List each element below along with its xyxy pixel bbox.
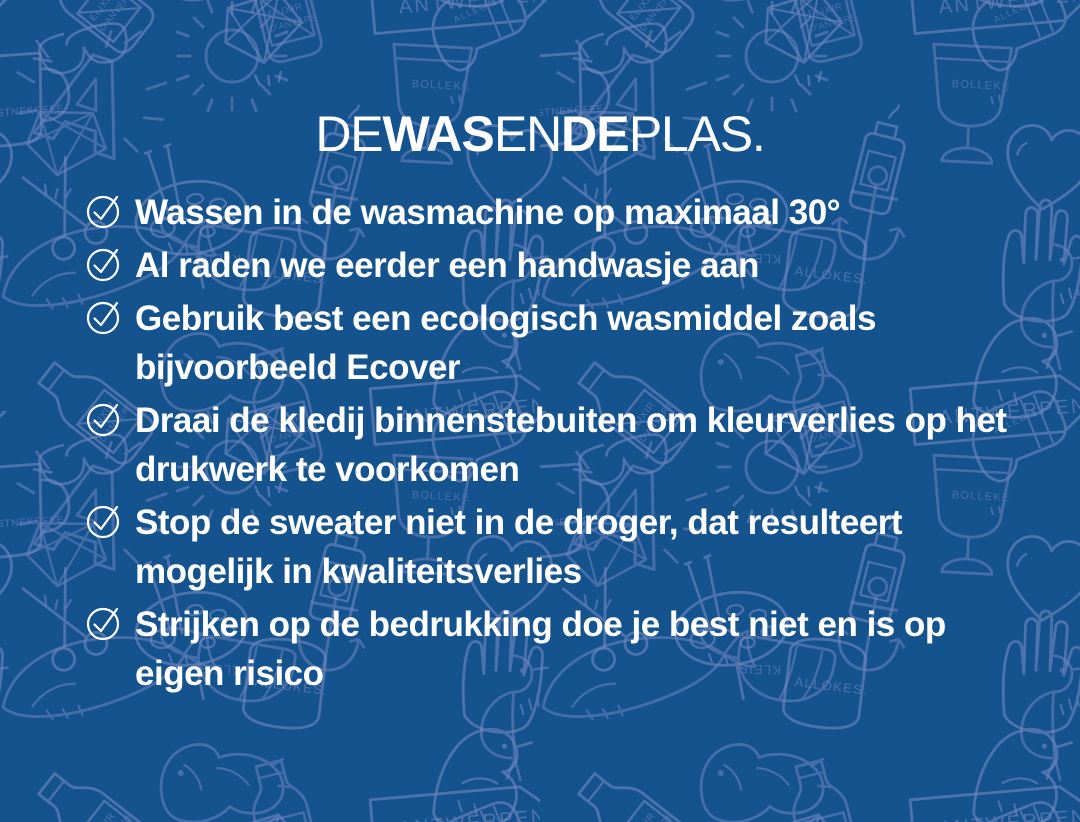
list-item: Al raden we eerder een handwasje aan [86, 241, 1040, 290]
care-instruction-list: Wassen in de wasmachine op maximaal 30° … [86, 188, 1040, 702]
title-part-was: WAS [382, 106, 494, 162]
list-item: Draai de kledij binnenstebuiten om kleur… [86, 396, 1040, 494]
care-instructions-card: ALLEGAIT. BOLLEKE ELIXIR D'ANVERS [0, 0, 1080, 822]
check-circle-icon [86, 403, 120, 437]
check-circle-icon [86, 505, 120, 539]
list-item: Stop de sweater niet in de droger, dat r… [86, 498, 1040, 596]
title-part-plas: PLAS. [629, 106, 765, 162]
check-circle-icon [86, 248, 120, 282]
check-circle-icon [86, 607, 120, 641]
title-part-de-1: DE [315, 106, 382, 162]
title-part-en: EN [494, 106, 561, 162]
list-item-label: Draai de kledij binnenstebuiten om kleur… [135, 396, 1015, 494]
page-title: DEWASENDEPLAS. [0, 106, 1080, 162]
list-item-label: Strijken op de bedrukking doe je best ni… [135, 600, 1015, 698]
list-item-label: Wassen in de wasmachine op maximaal 30° [135, 188, 840, 237]
list-item: Wassen in de wasmachine op maximaal 30° [86, 188, 1040, 237]
check-circle-icon [86, 301, 120, 335]
list-item-label: Stop de sweater niet in de droger, dat r… [135, 498, 1015, 596]
check-circle-icon [86, 195, 120, 229]
list-item-label: Al raden we eerder een handwasje aan [135, 241, 759, 290]
list-item-label: Gebruik best een ecologisch wasmiddel zo… [135, 294, 1015, 392]
list-item: Strijken op de bedrukking doe je best ni… [86, 600, 1040, 698]
title-part-de-2: DE [561, 106, 629, 162]
list-item: Gebruik best een ecologisch wasmiddel zo… [86, 294, 1040, 392]
